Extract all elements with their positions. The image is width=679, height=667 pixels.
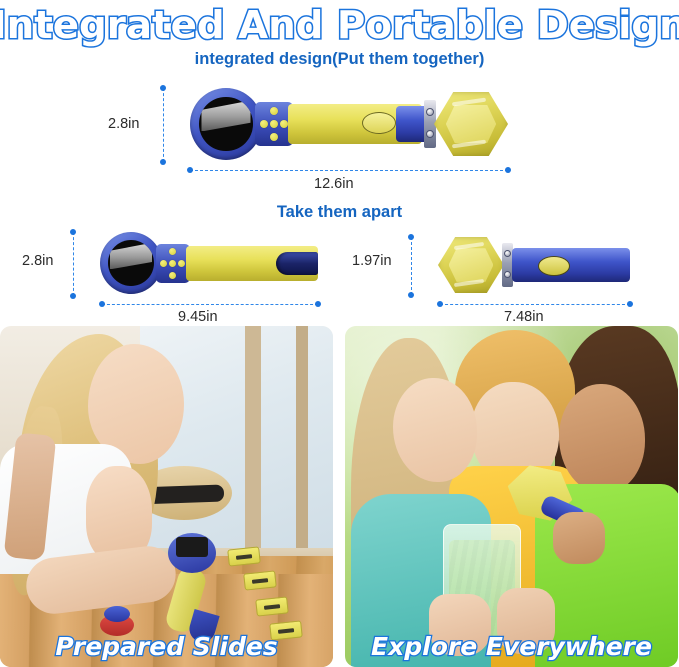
catcher-height-dot-bottom: [408, 292, 414, 298]
microscope-length-dot-left: [99, 301, 105, 307]
blue-handle: [512, 248, 630, 282]
catcher-height-line: [411, 237, 412, 295]
catcher-length-dot-right: [627, 301, 633, 307]
photo-microscope-screen: [176, 537, 208, 557]
key-right-2: [178, 260, 185, 267]
catcher-length-label: 7.48in: [504, 309, 544, 325]
microscope-head: [190, 88, 262, 160]
microscope-height-dot-top: [70, 229, 76, 235]
assembled-height-dot-top: [160, 85, 166, 91]
key-right: [280, 120, 288, 128]
assembled-height-label: 2.8in: [108, 116, 139, 132]
photo-prepared-slides: Prepared Slides: [0, 326, 333, 667]
product-dimension-diagram: 2.8in 12.6in 2.8in 9.45in: [0, 0, 679, 325]
key-up-2: [169, 248, 176, 255]
lens-glare: [201, 101, 250, 132]
catcher-height-label: 1.97in: [352, 253, 392, 269]
assembled-height-dot-bottom: [160, 159, 166, 165]
photo-caption-right: Explore Everywhere: [345, 632, 678, 661]
hinge-pin-top-2: [504, 250, 511, 257]
girl2-face: [559, 384, 645, 494]
lens-glare-2: [110, 243, 152, 270]
catcher-trigger-button: [538, 256, 570, 276]
hinge-pin-bottom-2: [504, 271, 511, 278]
microscope-lens-2: [108, 240, 154, 286]
specimen-cup: [434, 92, 508, 156]
microscope-height-dot-bottom: [70, 293, 76, 299]
connector-socket: [276, 252, 318, 275]
girl2-hand: [553, 512, 605, 564]
trigger-button: [362, 112, 396, 134]
blue-knob: [104, 606, 130, 622]
hinge-pin-top: [426, 108, 434, 116]
photo-caption-left: Prepared Slides: [0, 632, 333, 661]
assembled-length-label: 12.6in: [314, 176, 354, 192]
catcher-height-dot-top: [408, 234, 414, 240]
photo-caption-left-text: Prepared Slides: [55, 632, 277, 661]
hinge-pin-bottom: [426, 130, 434, 138]
specimen-cup-inner: [446, 105, 496, 143]
girl1-face: [393, 378, 477, 482]
prepared-slide-1: [227, 546, 261, 566]
microscope-head-2: [100, 232, 162, 294]
key-down-2: [169, 272, 176, 279]
specimen-cup-2: [438, 237, 504, 293]
prepared-slide-3: [255, 596, 289, 616]
assembled-length-dot-right: [505, 167, 511, 173]
key-left-2: [160, 260, 167, 267]
catcher-length-dot-left: [437, 301, 443, 307]
microscope-height-line: [73, 232, 74, 296]
microscope-length-line: [102, 304, 318, 305]
key-center-2: [169, 260, 176, 267]
catcher-length-line: [440, 304, 630, 305]
prepared-slide-2: [243, 570, 277, 590]
microscope-length-label: 9.45in: [178, 309, 218, 325]
photo-explore-everywhere: Explore Everywhere: [345, 326, 678, 667]
specimen-cup-inner-2: [449, 248, 494, 282]
assembled-length-line: [190, 170, 508, 171]
photo-caption-right-text: Explore Everywhere: [371, 632, 652, 661]
window-frame: [245, 326, 261, 576]
key-center: [270, 120, 278, 128]
key-left: [260, 120, 268, 128]
microscope-height-label: 2.8in: [22, 253, 53, 269]
keypad-2: [156, 244, 190, 283]
key-down: [270, 133, 278, 141]
assembled-length-dot-left: [187, 167, 193, 173]
microscope-length-dot-right: [315, 301, 321, 307]
lifestyle-photo-row: Prepared Slides Explore Everywhere: [0, 326, 679, 667]
key-up: [270, 107, 278, 115]
assembled-height-line: [163, 88, 164, 162]
microscope-lens: [199, 97, 252, 150]
